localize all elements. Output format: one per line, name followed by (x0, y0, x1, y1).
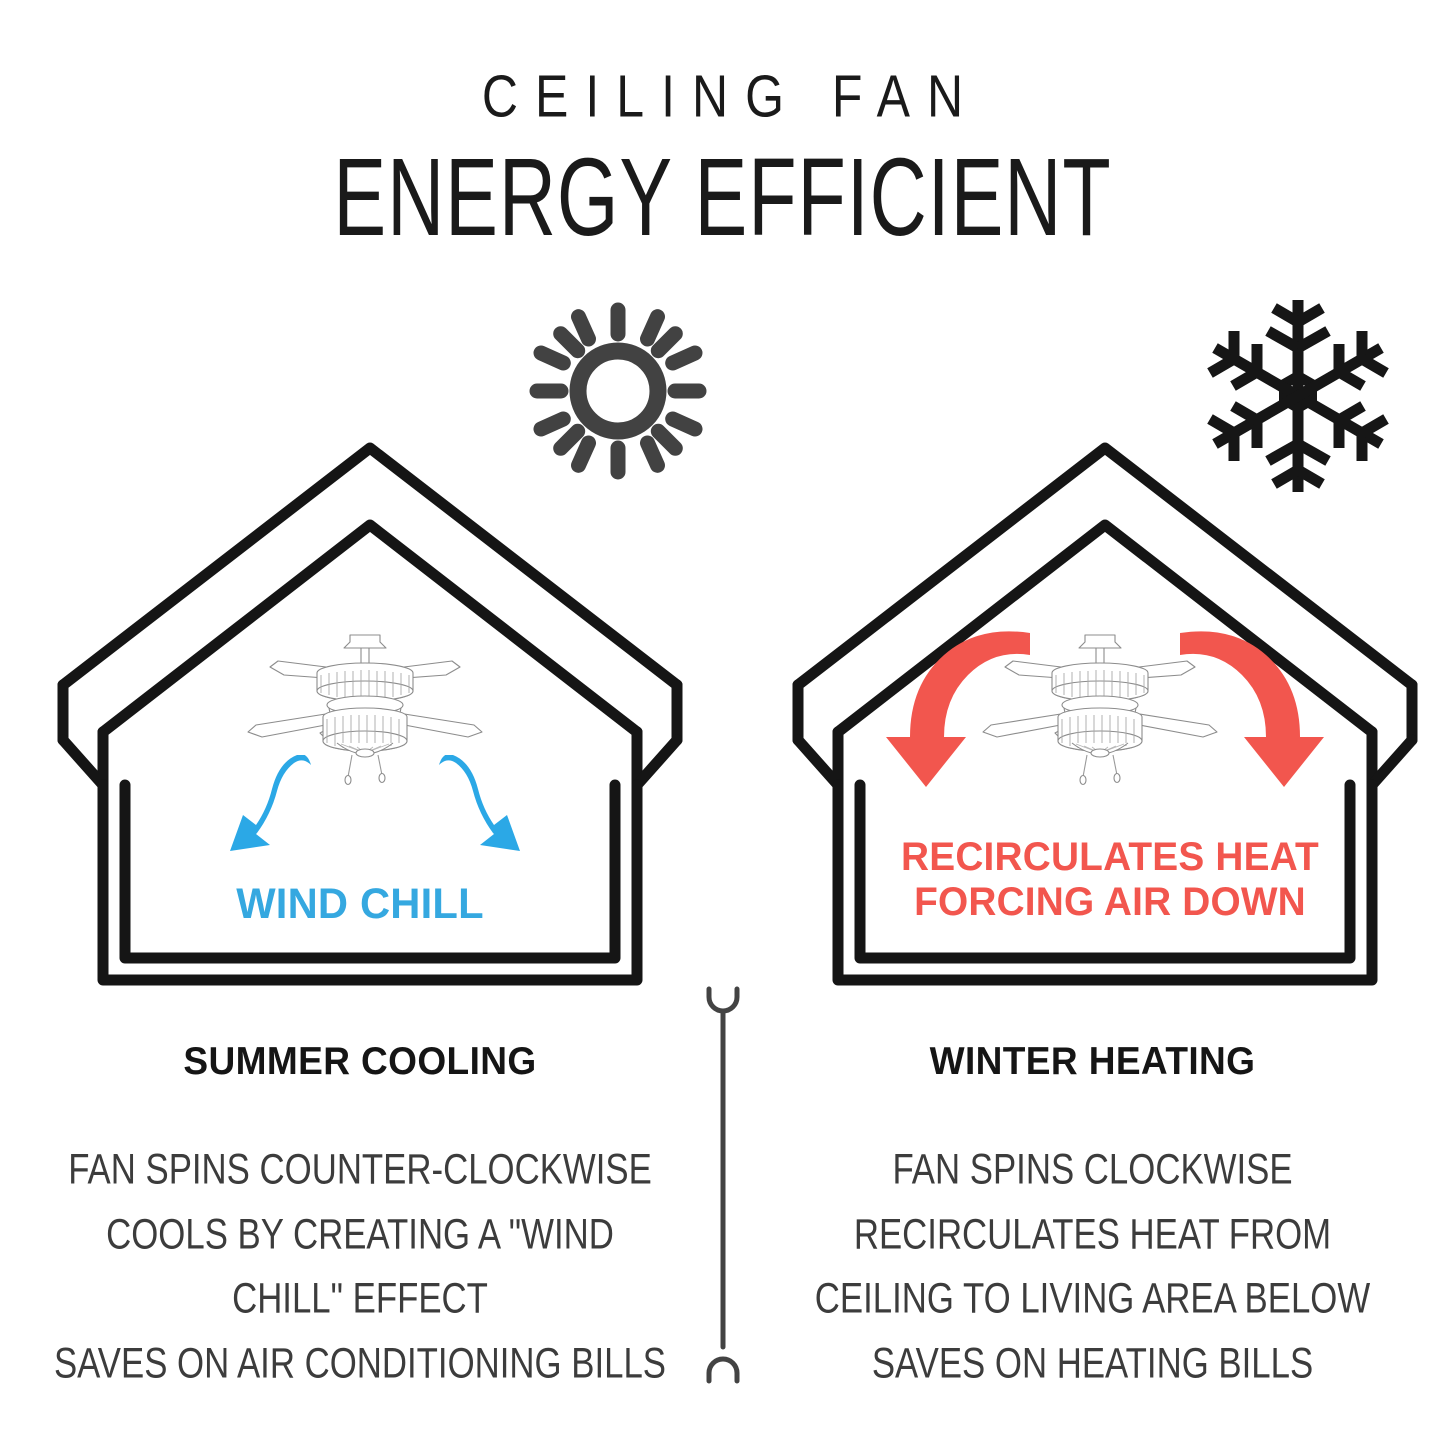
airflow-arrows-summer (215, 755, 535, 895)
page-title: ENERGY EFFICIENT (58, 135, 1387, 262)
infographic-canvas: CEILING FAN ENERGY EFFICIENT (0, 0, 1445, 1445)
summer-heading: SUMMER COOLING (47, 1040, 674, 1084)
winter-heading: WINTER HEATING (777, 1040, 1409, 1084)
arrow-left-down-blue (230, 755, 311, 851)
winter-body-text: FAN SPINS CLOCKWISE RECIRCULATES HEAT FR… (780, 1138, 1405, 1396)
section-winter-heating: WINTER HEATING FAN SPINS CLOCKWISE RECIR… (760, 1040, 1425, 1364)
summer-body-text: FAN SPINS COUNTER-CLOCKWISE COOLS BY CRE… (50, 1138, 670, 1396)
recirculates-heat-label: RECIRCULATES HEAT FORCING AIR DOWN (790, 835, 1430, 925)
arrow-right-down-blue (439, 755, 520, 851)
section-summer-cooling: SUMMER COOLING FAN SPINS COUNTER-CLOCKWI… (30, 1040, 690, 1364)
center-divider (700, 985, 746, 1390)
arrow-left-down-red (886, 631, 1030, 787)
page-kicker: CEILING FAN (0, 62, 1445, 130)
airflow-arrows-winter (875, 625, 1335, 795)
wind-chill-label: WIND CHILL (11, 880, 709, 928)
arrow-right-down-red (1180, 631, 1324, 787)
